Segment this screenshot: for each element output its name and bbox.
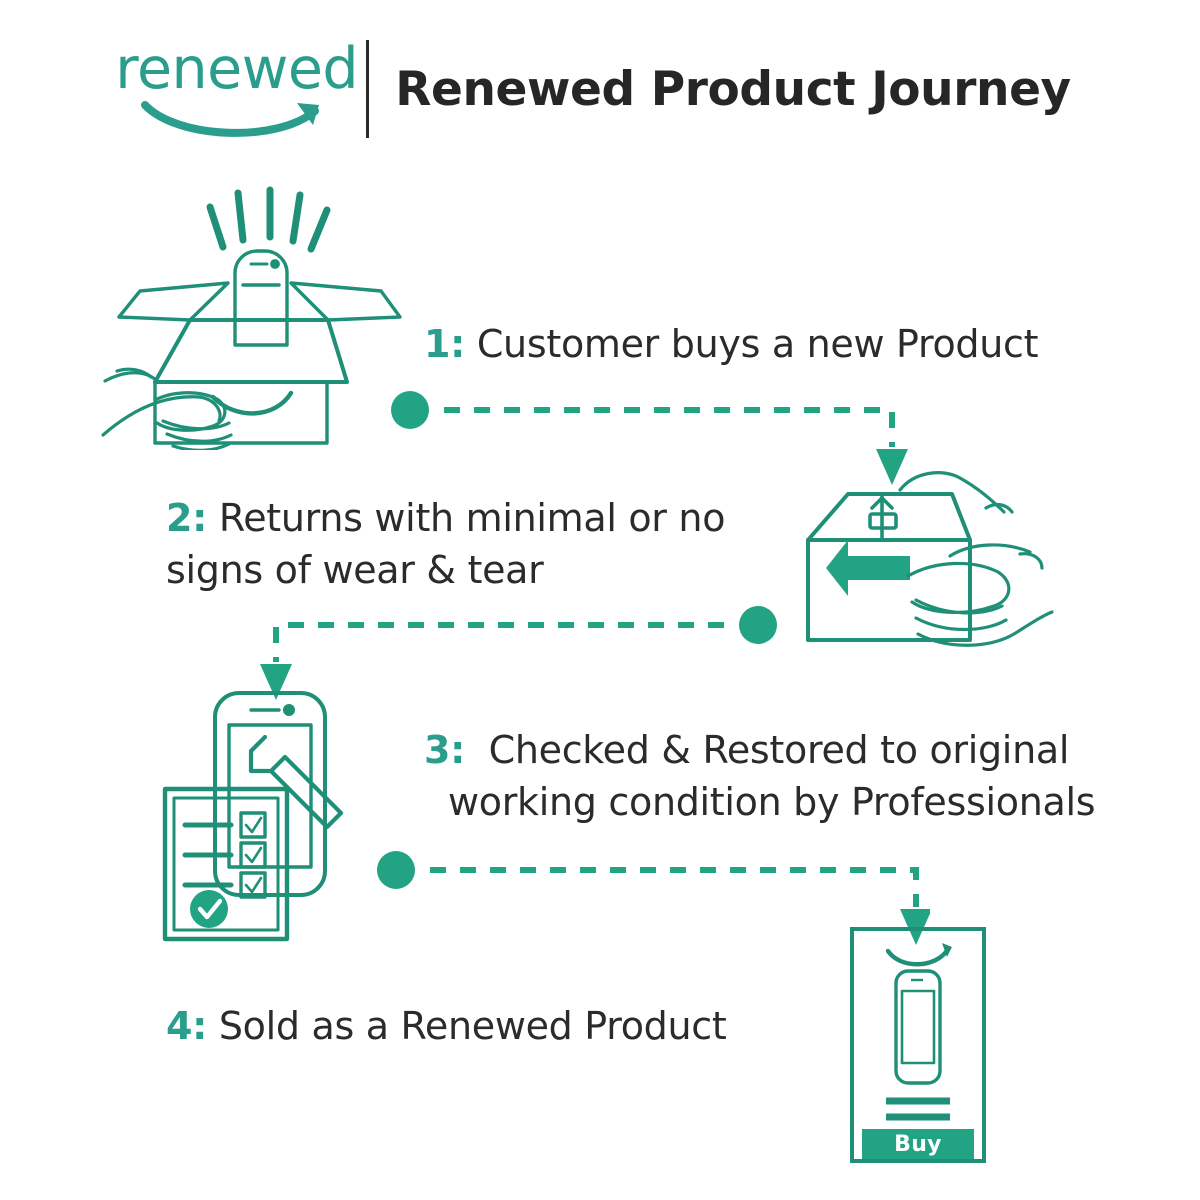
buy-button[interactable]: Buy [848, 1129, 988, 1159]
infographic-canvas: renewed Renewed Product Journey [0, 0, 1200, 1200]
step-2-label-line-2: signs of wear & tear [166, 544, 866, 596]
step-2-label-line-1: Returns with minimal or no [219, 496, 725, 540]
renewed-brand-logo: renewed [129, 37, 344, 141]
amazon-smile-arrow-icon [137, 99, 337, 143]
sparkle-lines [210, 190, 327, 249]
connector-dot [391, 391, 429, 429]
phone-wrench-checklist-icon [155, 685, 405, 945]
tape-strip [870, 494, 896, 540]
step-4-number: 4: [166, 1004, 207, 1048]
smartphone [896, 971, 940, 1083]
brand-wordmark: renewed [115, 39, 358, 99]
step-1-label: Customer buys a new Product [477, 322, 1038, 366]
checklist-clipboard [165, 789, 287, 939]
connector-dot [377, 851, 415, 889]
checkbox-checked [241, 813, 265, 837]
open-box-with-phone-icon [95, 185, 405, 450]
header: renewed Renewed Product Journey [0, 34, 1200, 144]
hands-holding-box [900, 473, 1052, 646]
step-4-label: Sold as a Renewed Product [219, 1004, 727, 1048]
step-1-text: 1: Customer buys a new Product [424, 318, 1124, 370]
page-title: Renewed Product Journey [395, 62, 1071, 117]
smartphone [215, 693, 325, 895]
step-1-number: 1: [424, 322, 465, 366]
step-3-text: 3: Checked & Restored to original workin… [424, 724, 1144, 828]
step-2-number: 2: [166, 496, 207, 540]
header-divider [366, 40, 369, 138]
smartphone [235, 251, 287, 345]
connector-dot [739, 606, 777, 644]
checkbox-checked [241, 843, 265, 867]
step-2-text: 2: Returns with minimal or no signs of w… [166, 492, 866, 596]
step-3-number: 3: [424, 728, 465, 772]
step-3-label-line-2: working condition by Professionals [448, 776, 1144, 828]
connector-step3-to-step4 [370, 845, 930, 955]
amazon-smile-icon [888, 949, 948, 964]
circle-check-badge [190, 890, 228, 928]
step-4-text: 4: Sold as a Renewed Product [166, 1000, 866, 1052]
step-3-label-line-1: Checked & Restored to original [489, 728, 1069, 772]
